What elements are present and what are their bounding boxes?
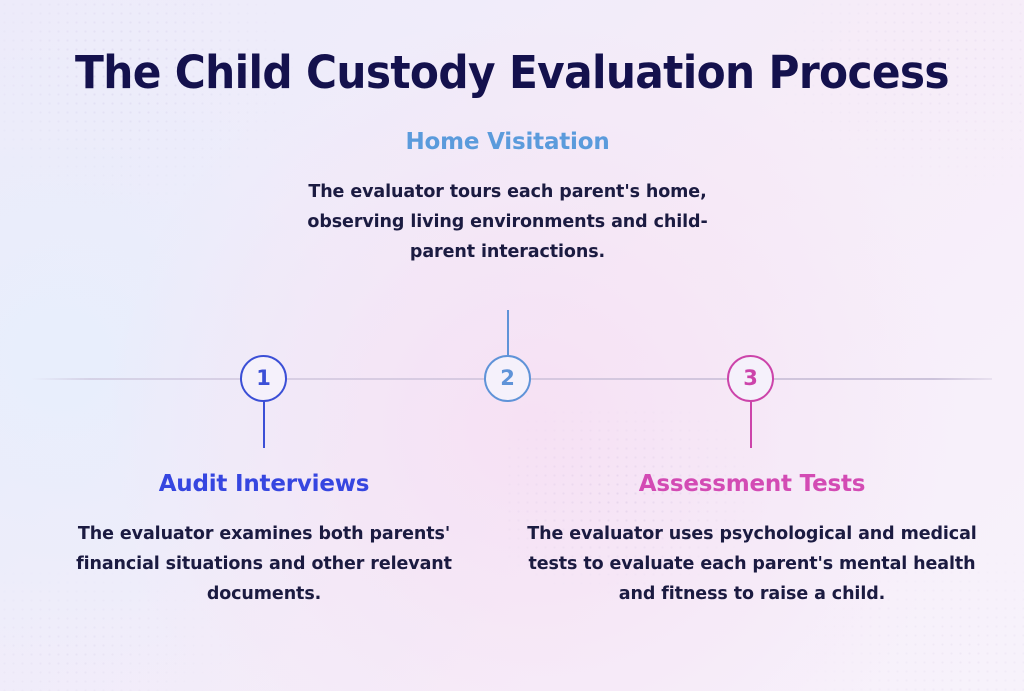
step-marker-1[interactable]: 1 (240, 355, 287, 402)
step-1-connector (263, 401, 265, 448)
halftone-dots-top-left (0, 0, 300, 210)
step-1-heading: Audit Interviews (64, 470, 464, 499)
step-block-3: Assessment Tests The evaluator uses psyc… (512, 470, 992, 609)
step-block-2: Home Visitation The evaluator tours each… (300, 128, 715, 267)
step-marker-2[interactable]: 2 (484, 355, 531, 402)
step-3-description: The evaluator uses psychological and med… (512, 519, 992, 609)
step-3-heading: Assessment Tests (512, 470, 992, 499)
step-block-1: Audit Interviews The evaluator examines … (64, 470, 464, 609)
step-marker-3[interactable]: 3 (727, 355, 774, 402)
page-title: The Child Custody Evaluation Process (31, 46, 994, 100)
step-3-connector (750, 401, 752, 448)
step-2-connector (507, 310, 509, 357)
step-1-description: The evaluator examines both parents' fin… (64, 519, 464, 609)
step-2-heading: Home Visitation (300, 128, 715, 157)
step-2-description: The evaluator tours each parent's home, … (300, 177, 715, 267)
infographic-canvas: The Child Custody Evaluation Process Hom… (0, 0, 1024, 691)
